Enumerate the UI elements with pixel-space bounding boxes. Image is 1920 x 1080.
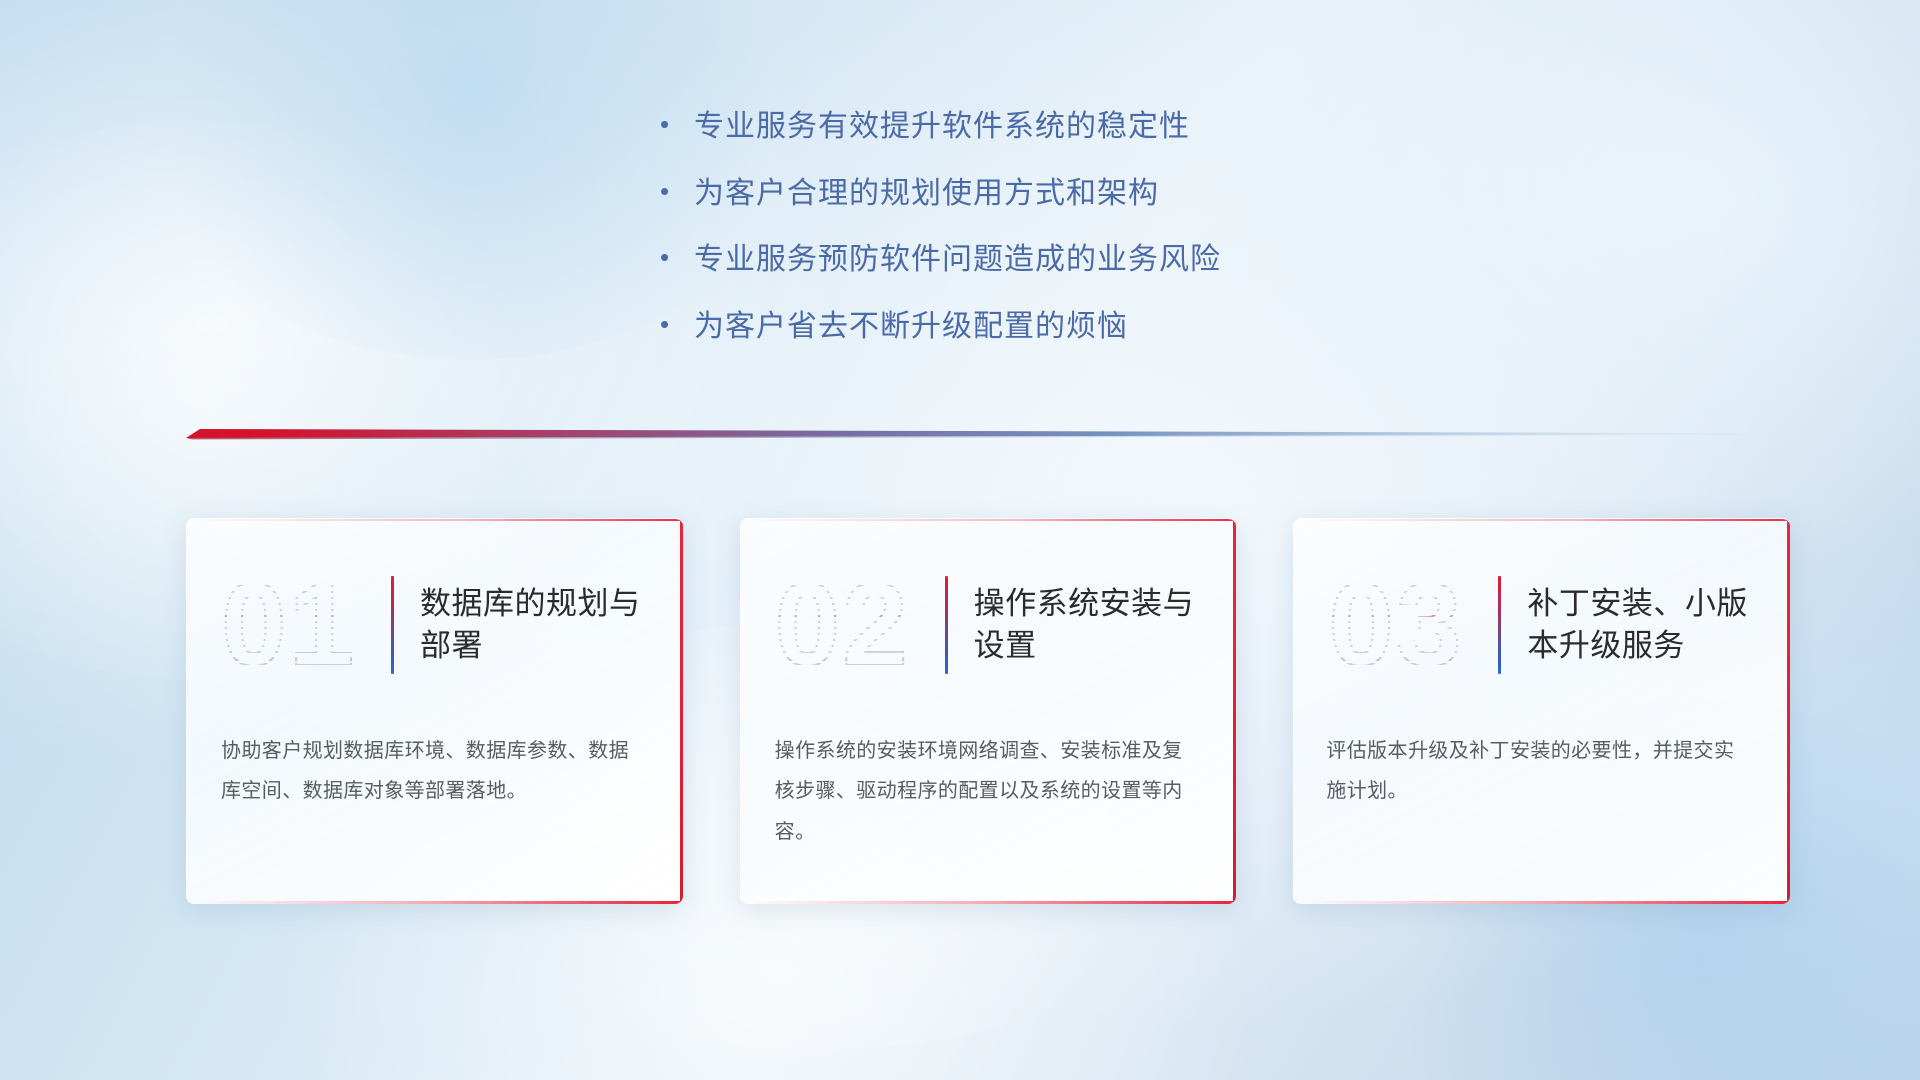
bullet-label: 专业服务有效提升软件系统的稳定性 [694, 108, 1190, 146]
service-card[interactable]: 02 02 操作系统安装与设置 操作系统的安装环境网络调查、安装标准及复核步骤、… [740, 518, 1237, 904]
bullet-label: 为客户省去不断升级配置的烦恼 [694, 308, 1128, 346]
bullet-dot-icon: • [660, 178, 694, 204]
card-row: 01 01 数据库的规划与部署 协助客户规划数据库环境、数据库参数、数据库空间、… [186, 518, 1790, 904]
service-card[interactable]: 01 01 数据库的规划与部署 协助客户规划数据库环境、数据库参数、数据库空间、… [186, 518, 683, 904]
bullet-item: • 专业服务预防软件问题造成的业务风险 [660, 241, 1480, 279]
card-header: 01 01 数据库的规划与部署 [187, 519, 683, 695]
card-number-graphic: 03 03 [1328, 555, 1494, 695]
card-number-tint: 02 [775, 555, 941, 695]
bullet-label: 为客户合理的规划使用方式和架构 [694, 175, 1159, 213]
card-number-graphic: 01 01 [221, 555, 387, 695]
bullet-list: • 专业服务有效提升软件系统的稳定性 • 为客户合理的规划使用方式和架构 • 专… [660, 108, 1480, 374]
card-bottom-accent [1306, 901, 1790, 904]
card-number-tint: 03 [1328, 555, 1494, 695]
card-header: 03 03 补丁安装、小版本升级服务 [1294, 519, 1790, 695]
card-divider-bar [391, 576, 394, 674]
bullet-item: • 为客户省去不断升级配置的烦恼 [660, 308, 1480, 346]
card-number-tint: 01 [221, 555, 387, 695]
service-card[interactable]: 03 03 补丁安装、小版本升级服务 评估版本升级及补丁安装的必要性，并提交实施… [1293, 518, 1790, 904]
card-description: 协助客户规划数据库环境、数据库参数、数据库空间、数据库对象等部署落地。 [187, 695, 683, 812]
slide-canvas: • 专业服务有效提升软件系统的稳定性 • 为客户合理的规划使用方式和架构 • 专… [0, 0, 1920, 1080]
card-title: 数据库的规划与部署 [420, 583, 649, 666]
card-description: 操作系统的安装环境网络调查、安装标准及复核步骤、驱动程序的配置以及系统的设置等内… [741, 695, 1237, 852]
card-title: 操作系统安装与设置 [974, 583, 1203, 666]
card-number-graphic: 02 02 [775, 555, 941, 695]
bullet-dot-icon: • [660, 311, 694, 337]
card-divider-bar [945, 576, 948, 674]
bullet-item: • 为客户合理的规划使用方式和架构 [660, 175, 1480, 213]
card-description: 评估版本升级及补丁安装的必要性，并提交实施计划。 [1294, 695, 1790, 812]
card-divider-bar [1498, 576, 1501, 674]
bullet-label: 专业服务预防软件问题造成的业务风险 [694, 241, 1221, 279]
card-title: 补丁安装、小版本升级服务 [1527, 583, 1756, 666]
card-bottom-accent [753, 901, 1237, 904]
bullet-item: • 专业服务有效提升软件系统的稳定性 [660, 108, 1480, 146]
section-divider [186, 424, 1786, 444]
card-header: 02 02 操作系统安装与设置 [741, 519, 1237, 695]
bullet-dot-icon: • [660, 111, 694, 137]
card-bottom-accent [199, 901, 683, 904]
bullet-dot-icon: • [660, 244, 694, 270]
